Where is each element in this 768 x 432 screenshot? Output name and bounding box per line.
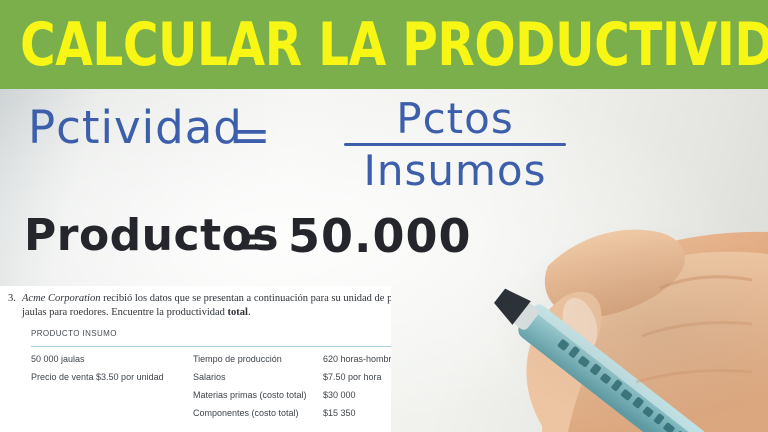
table-body: 50 000 jaulas Precio de venta $3.50 por …: [31, 353, 391, 427]
table-row: Componentes (costo total): [193, 407, 299, 419]
textbook-overlay-panel: 3.Acme Corporation recibió los datos que…: [0, 286, 391, 432]
handwritten-fraction: Pctos Insumos: [340, 96, 570, 194]
title-banner: CALCULAR LA PRODUCTIVIDAD: [0, 0, 768, 89]
problem-line2-period: .: [248, 307, 251, 318]
problem-text-line1: recibió los datos que se presentan a con…: [100, 293, 391, 304]
handwritten-equals-2: =: [237, 220, 275, 264]
table-row: Materias primas (costo total): [193, 389, 307, 401]
table-row: 50 000 jaulas: [31, 353, 85, 365]
handwritten-equals-1: =: [232, 112, 272, 158]
problem-text-line2: jaulas para roedores. Encuentre la produ…: [22, 307, 228, 318]
problem-statement: 3.Acme Corporation recibió los datos que…: [8, 292, 391, 320]
handwritten-pctividad: Pctividad: [28, 105, 243, 150]
problem-emphasis-total: total: [228, 307, 248, 318]
fraction-denominator: Insumos: [340, 148, 570, 194]
table-row: Precio de venta $3.50 por unidad: [31, 371, 164, 383]
table-row: $7.50 por hora: [323, 371, 382, 383]
table-row: $15 350: [323, 407, 356, 419]
problem-line2: jaulas para roedores. Encuentre la produ…: [22, 306, 391, 320]
problem-number: 3.: [8, 292, 22, 306]
problem-company-name: Acme Corporation: [22, 293, 100, 304]
table-row: Tiempo de producción: [193, 353, 282, 365]
table-row: 620 horas-hombre: [323, 353, 391, 365]
table-row: $30 000: [323, 389, 356, 401]
fraction-numerator: Pctos: [340, 96, 570, 142]
data-table: PRODUCTO INSUMO 50 000 jaulas Precio de …: [31, 328, 391, 427]
banner-title-text: CALCULAR LA PRODUCTIVIDAD: [20, 10, 677, 80]
handwritten-productos-value: 50.000: [288, 213, 472, 259]
table-header-row: PRODUCTO INSUMO: [31, 328, 391, 344]
table-row: Salarios: [193, 371, 226, 383]
screenshot-root: CALCULAR LA PRODUCTIVIDAD Pctividad = Pc…: [0, 0, 768, 432]
table-rule-top: [31, 346, 391, 347]
